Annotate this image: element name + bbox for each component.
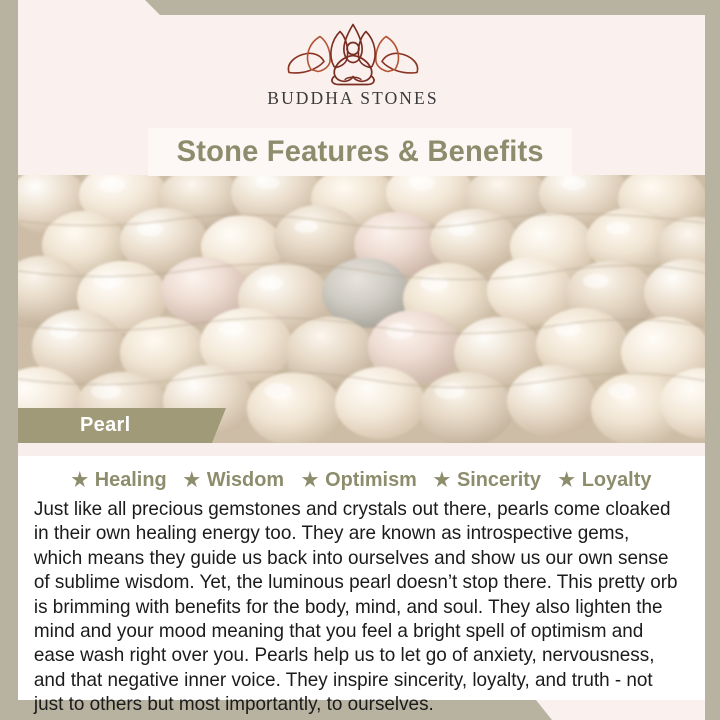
brand-header: BUDDHA STONES (0, 14, 706, 124)
frame-right-band (705, 0, 720, 720)
stone-description: Just like all precious gemstones and cry… (28, 498, 685, 718)
benefit-item: ★ Sincerity (427, 468, 548, 492)
pearl-stones-photo (18, 175, 705, 443)
content-panel: ★ Healing ★ Wisdom ★ Optimism ★ Sincerit… (18, 456, 705, 700)
benefit-label: Wisdom (207, 468, 284, 492)
benefit-label: Healing (95, 468, 167, 492)
lotus-meditation-icon (278, 20, 428, 86)
frame-top-band (0, 0, 720, 15)
benefit-item: ★ Wisdom (177, 468, 291, 492)
star-icon: ★ (558, 471, 575, 490)
benefit-item: ★ Optimism (295, 468, 424, 492)
benefits-list: ★ Healing ★ Wisdom ★ Optimism ★ Sincerit… (28, 466, 695, 494)
stone-name-bar: Pearl (18, 408, 226, 443)
benefit-label: Loyalty (582, 468, 652, 492)
benefit-label: Optimism (325, 468, 417, 492)
product-info-card: BUDDHA STONES Stone Features & Benefits (0, 0, 720, 720)
section-title-banner: Stone Features & Benefits (148, 128, 572, 176)
brand-name: BUDDHA STONES (267, 88, 438, 109)
stone-name: Pearl (80, 414, 130, 437)
star-icon: ★ (184, 471, 201, 490)
benefit-label: Sincerity (457, 468, 541, 492)
benefit-item: ★ Healing (65, 468, 174, 492)
photo-bottom-strip (18, 443, 705, 456)
star-icon: ★ (302, 471, 319, 490)
benefit-item: ★ Loyalty (552, 468, 659, 492)
star-icon: ★ (72, 471, 89, 490)
page-title: Stone Features & Benefits (176, 135, 543, 169)
star-icon: ★ (434, 471, 451, 490)
